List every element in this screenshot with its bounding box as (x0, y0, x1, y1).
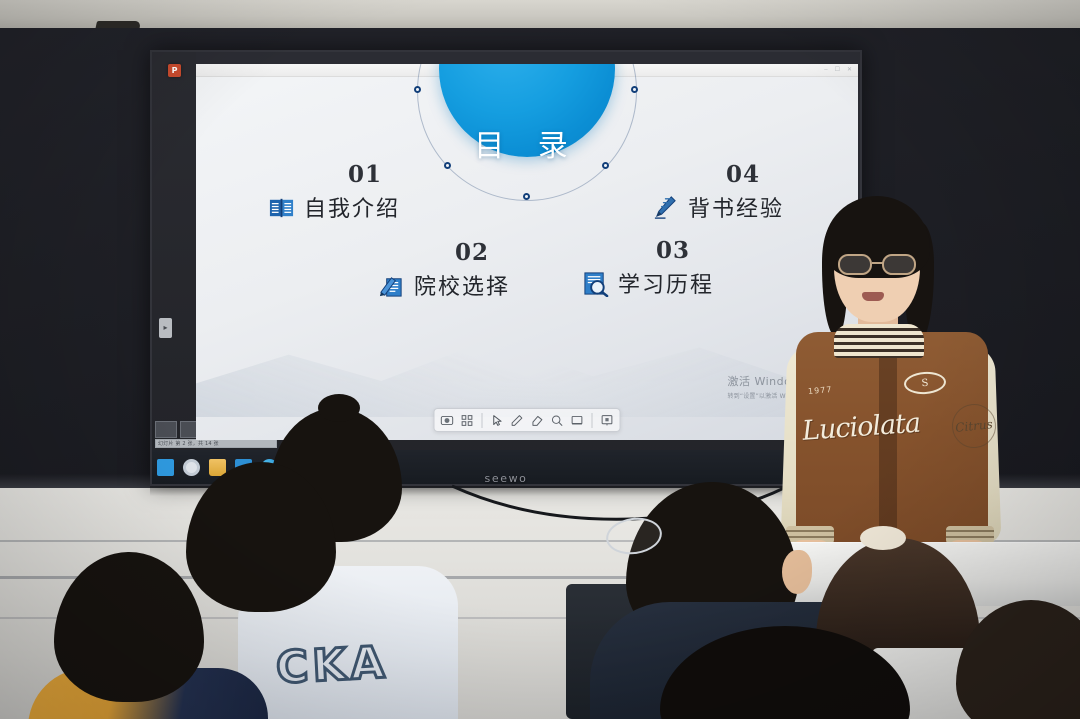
frame-icon[interactable] (568, 411, 587, 429)
powerpoint-app-icon[interactable]: P (168, 64, 181, 77)
minimize-icon[interactable]: – (824, 67, 827, 73)
lens-left (838, 254, 872, 275)
student-far-right (956, 600, 1080, 719)
slide-pane-rail (152, 52, 196, 440)
mouth (862, 292, 884, 301)
jacket-collar (834, 324, 924, 358)
toc-item-02[interactable]: 02 (378, 241, 510, 301)
head (660, 626, 910, 719)
student-front-row (660, 626, 920, 719)
toc-item-03[interactable]: 03 (582, 239, 714, 299)
hair-knot (318, 394, 360, 422)
slide-heading: 目 录 (474, 121, 580, 165)
toc-label: 院校选择 (414, 269, 510, 301)
slide-status-text: 幻灯片 第 2 张，共 14 张 (155, 439, 277, 448)
student-yellow-jacket (28, 552, 258, 719)
toolbar-group-present[interactable] (598, 411, 617, 429)
orbit-dot (523, 193, 530, 200)
window-controls[interactable]: – ☐ ✕ (824, 67, 858, 73)
pen-document-icon (378, 272, 405, 299)
slide-canvas[interactable]: 目 录 01 (196, 77, 858, 417)
eraser-icon[interactable] (528, 411, 547, 429)
orbit-dot (444, 162, 451, 169)
cursor-arrow-icon[interactable] (488, 411, 507, 429)
toolbar-group-tools[interactable] (488, 411, 587, 429)
toc-number: 02 (434, 241, 510, 264)
projected-screen[interactable]: 演示文稿1 - PowerPoint 放映中 – ☐ ✕ (196, 64, 858, 440)
pen-icon[interactable] (508, 411, 527, 429)
eyeglasses-icon (836, 254, 920, 276)
orbit-dot (602, 162, 609, 169)
toc-number: 04 (702, 163, 784, 186)
lens-right (882, 254, 916, 275)
head (956, 600, 1080, 719)
toc-label: 背书经验 (688, 191, 784, 223)
magnifier-icon[interactable] (548, 411, 567, 429)
toc-item-04[interactable]: 04 (652, 163, 784, 223)
toc-label: 学习历程 (618, 267, 714, 299)
pencil-lines-icon (652, 194, 679, 221)
toc-number: 03 (632, 239, 714, 262)
classroom-scene: P ▸ 幻灯片 第 2 张，共 14 张 演示文稿1 - PowerPoint … (0, 0, 1080, 719)
toolbar-divider (592, 413, 593, 428)
present-icon[interactable] (598, 411, 617, 429)
maximize-icon[interactable]: ☐ (835, 67, 840, 73)
shirt-graphic-text: CKA (275, 637, 390, 694)
ceiling (0, 0, 1080, 30)
panel-expander-arrow[interactable]: ▸ (159, 318, 172, 338)
head (54, 552, 204, 702)
seewo-brand-logo: seewo (485, 472, 528, 485)
hair-scrunchie (860, 526, 906, 550)
close-icon[interactable]: ✕ (847, 67, 852, 73)
slide-thumbnail[interactable] (155, 421, 177, 438)
start-icon[interactable] (157, 459, 174, 476)
toc-label: 自我介绍 (304, 191, 400, 223)
toolbar-divider (482, 413, 483, 428)
slide-thumbnail-strip[interactable] (155, 421, 202, 438)
orbit-dot (414, 86, 421, 93)
orbit-dot (631, 86, 638, 93)
seewo-home-icon[interactable] (438, 411, 457, 429)
toc-item-01[interactable]: 01 (268, 163, 400, 223)
document-magnifier-icon (582, 270, 609, 297)
seewo-floating-toolbar[interactable] (434, 408, 621, 432)
toolbar-group-apps[interactable] (438, 411, 477, 429)
seewo-display-panel[interactable]: P ▸ 幻灯片 第 2 张，共 14 张 演示文稿1 - PowerPoint … (150, 50, 862, 486)
open-book-icon (268, 194, 295, 221)
apps-grid-icon[interactable] (458, 411, 477, 429)
toc-number: 01 (330, 163, 400, 186)
